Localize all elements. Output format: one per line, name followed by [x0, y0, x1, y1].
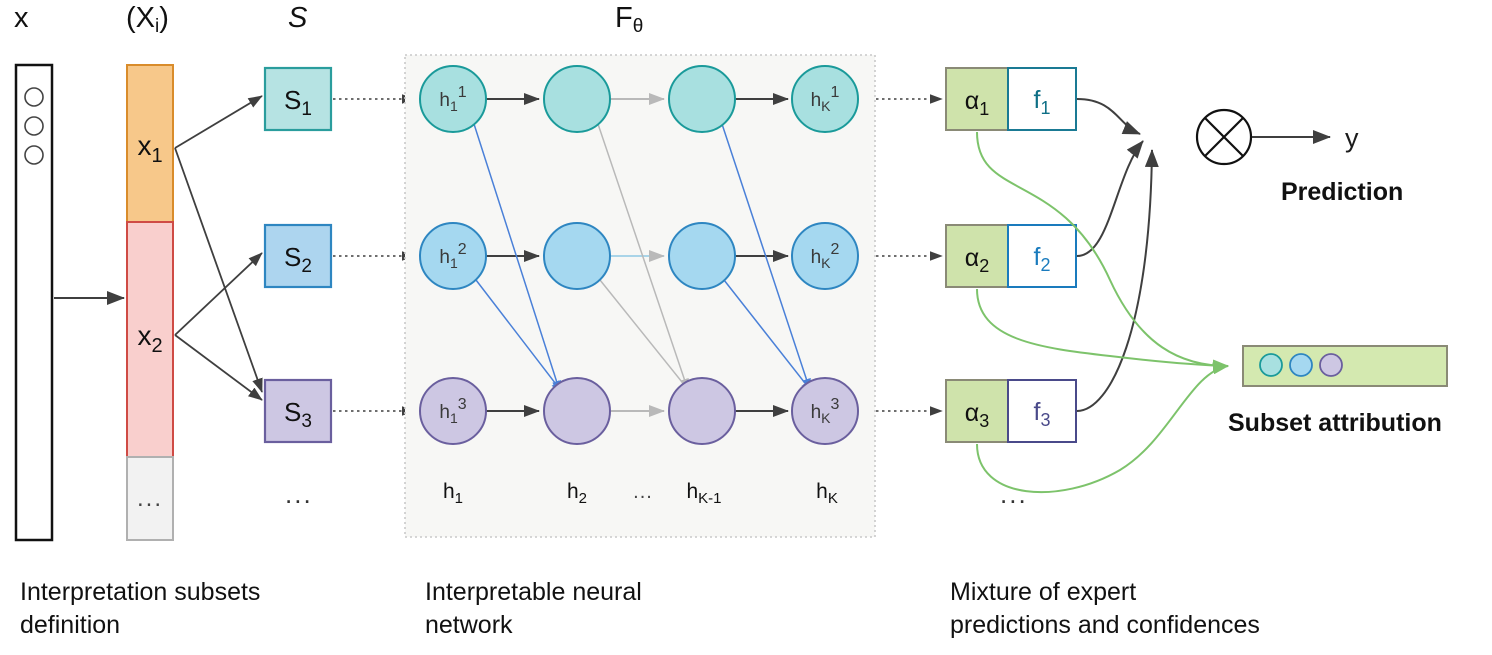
subset-to-network-links [333, 99, 414, 411]
input-vector [16, 65, 52, 540]
expert-box-3[interactable]: α3 f3 [946, 380, 1076, 442]
attribution-dot-2 [1290, 354, 1312, 376]
attribution-dot-1 [1260, 354, 1282, 376]
attribution-dot-3 [1320, 354, 1342, 376]
subset-box-s2[interactable]: S2 [265, 225, 331, 287]
svg-text:...: ... [633, 481, 653, 503]
input-dot-1 [25, 88, 43, 106]
feature-vector: x1 x2 ... [127, 65, 173, 540]
expert-to-product-curves [1077, 99, 1152, 411]
network-to-expert-links [876, 99, 942, 411]
feature-to-subset-arrows [175, 96, 262, 400]
subset-box-s1[interactable]: S1 [265, 68, 331, 130]
diagram-canvas: x (Xi) S Fθ Interpretation subsetsdefini… [0, 0, 1492, 655]
feature-label-ellipsis: ... [137, 485, 163, 512]
product-operator [1197, 110, 1251, 164]
expert-box-2[interactable]: α2 f2 [946, 225, 1076, 287]
subset-box-s3[interactable]: S3 [265, 380, 331, 442]
expert-box-1[interactable]: α1 f1 [946, 68, 1076, 130]
input-dot-2 [25, 117, 43, 135]
attribution-bar [1243, 346, 1447, 386]
input-dot-3 [25, 146, 43, 164]
